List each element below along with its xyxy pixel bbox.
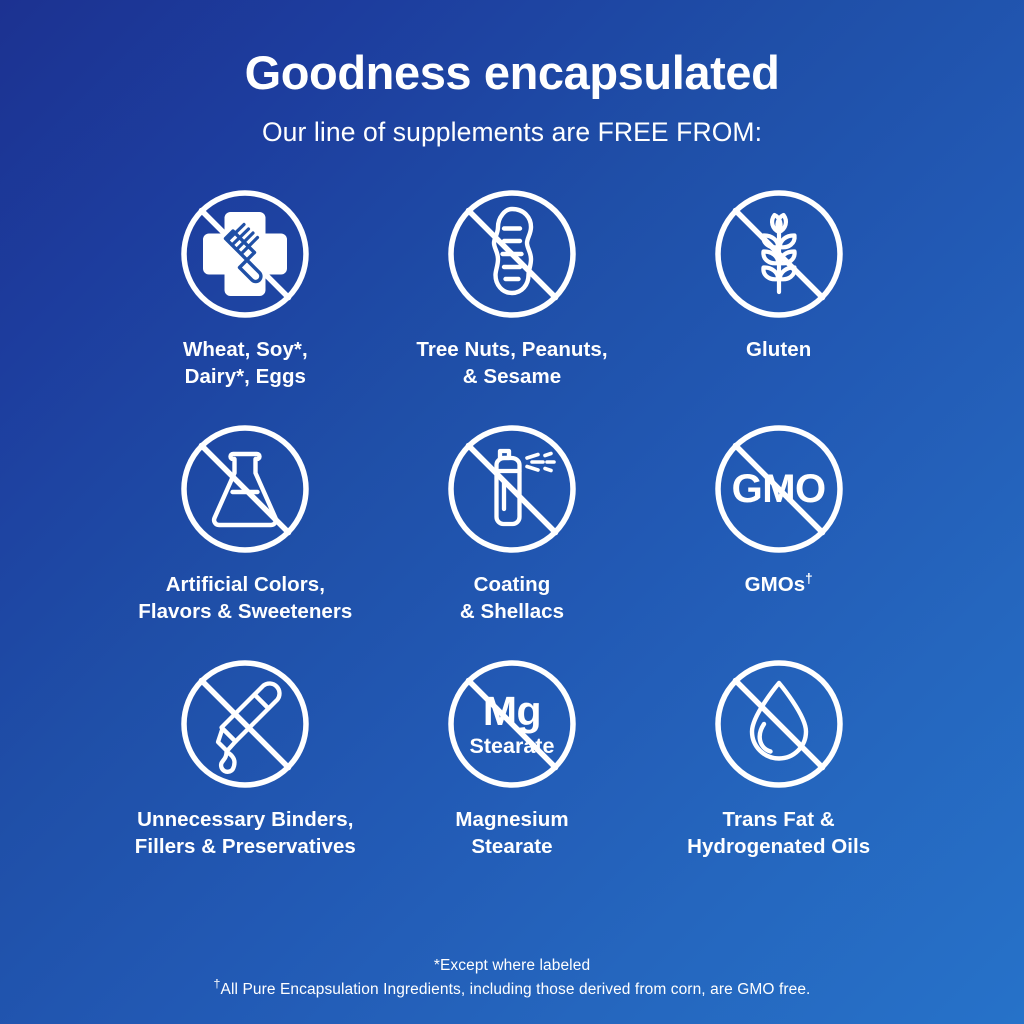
grid-item-label: Coating& Shellacs — [460, 572, 564, 624]
label-line-1: Magnesium — [455, 808, 568, 831]
grid-item-magnesium-stearate: Mg Stearate MagnesiumStearate — [379, 656, 646, 891]
label-line-1: Trans Fat & — [723, 808, 835, 831]
no-wheat-soy-dairy-eggs-icon — [177, 186, 313, 322]
dagger-marker: † — [214, 977, 221, 991]
grid-item-tree-nuts-peanuts-sesame: Tree Nuts, Peanuts,& Sesame — [379, 186, 646, 421]
footnote-dagger-text: All Pure Encapsulation Ingredients, incl… — [221, 981, 811, 998]
label-line-2: Fillers & Preservatives — [135, 835, 356, 858]
no-gluten-icon — [711, 186, 847, 322]
grid-item-label: Trans Fat &Hydrogenated Oils — [687, 807, 870, 859]
no-magnesium-stearate-icon: Mg Stearate — [444, 656, 580, 792]
label-line-2: Dairy*, Eggs — [185, 365, 306, 388]
grid-item-label: Wheat, Soy*,Dairy*, Eggs — [183, 337, 308, 389]
no-trans-fat-hydrogenated-oils-icon — [711, 656, 847, 792]
label-line-1: Coating — [474, 573, 551, 596]
label-line-2: & Sesame — [463, 365, 561, 388]
grid-item-gmos: GMO GMOs† — [645, 421, 912, 656]
grid-item-gluten: Gluten — [645, 186, 912, 421]
grid-item-label: GMOs† — [745, 572, 813, 598]
label-line-2: Hydrogenated Oils — [687, 835, 870, 858]
grid-item-label: Artificial Colors,Flavors & Sweeteners — [138, 572, 352, 624]
label-line-1: Tree Nuts, Peanuts, — [416, 338, 607, 361]
footnotes: *Except where labeled †All Pure Encapsul… — [0, 954, 1024, 1002]
label-line-1: GMOs — [745, 573, 806, 596]
label-line-1: Wheat, Soy*, — [183, 338, 308, 361]
label-line-1: Artificial Colors, — [166, 573, 325, 596]
no-coating-shellacs-icon — [444, 421, 580, 557]
dagger-marker: † — [805, 571, 813, 586]
label-line-2: Flavors & Sweeteners — [138, 600, 352, 623]
grid-item-binders-fillers-preservatives: Unnecessary Binders,Fillers & Preservati… — [112, 656, 379, 891]
grid-item-label: Tree Nuts, Peanuts,& Sesame — [416, 337, 607, 389]
label-line-1: Unnecessary Binders, — [137, 808, 353, 831]
footnote-dagger: †All Pure Encapsulation Ingredients, inc… — [0, 978, 1024, 1002]
label-line-2: Stearate — [471, 835, 552, 858]
no-gmo-icon: GMO — [711, 421, 847, 557]
grid-item-wheat-soy-dairy-eggs: Wheat, Soy*,Dairy*, Eggs — [112, 186, 379, 421]
page-subtitle: Our line of supplements are FREE FROM: — [0, 117, 1024, 149]
grid-item-label: Gluten — [746, 337, 811, 363]
free-from-grid: Wheat, Soy*,Dairy*, Eggs Tree Nuts, Pean… — [112, 186, 912, 891]
label-line-2: & Shellacs — [460, 600, 564, 623]
label-line-1: Gluten — [746, 338, 811, 361]
infographic-poster: Goodness encapsulated Our line of supple… — [0, 0, 1024, 1024]
grid-item-label: MagnesiumStearate — [455, 807, 568, 859]
no-binders-fillers-preservatives-icon — [177, 656, 313, 792]
page-title: Goodness encapsulated — [0, 46, 1024, 101]
footnote-asterisk: *Except where labeled — [0, 954, 1024, 978]
grid-item-trans-fat-hydrogenated-oils: Trans Fat &Hydrogenated Oils — [645, 656, 912, 891]
grid-item-coating-shellacs: Coating& Shellacs — [379, 421, 646, 656]
grid-item-artificial-colors: Artificial Colors,Flavors & Sweeteners — [112, 421, 379, 656]
grid-item-label: Unnecessary Binders,Fillers & Preservati… — [135, 807, 356, 859]
no-tree-nuts-peanuts-sesame-icon — [444, 186, 580, 322]
header: Goodness encapsulated Our line of supple… — [0, 0, 1024, 148]
no-artificial-colors-flavors-sweeteners-icon — [177, 421, 313, 557]
